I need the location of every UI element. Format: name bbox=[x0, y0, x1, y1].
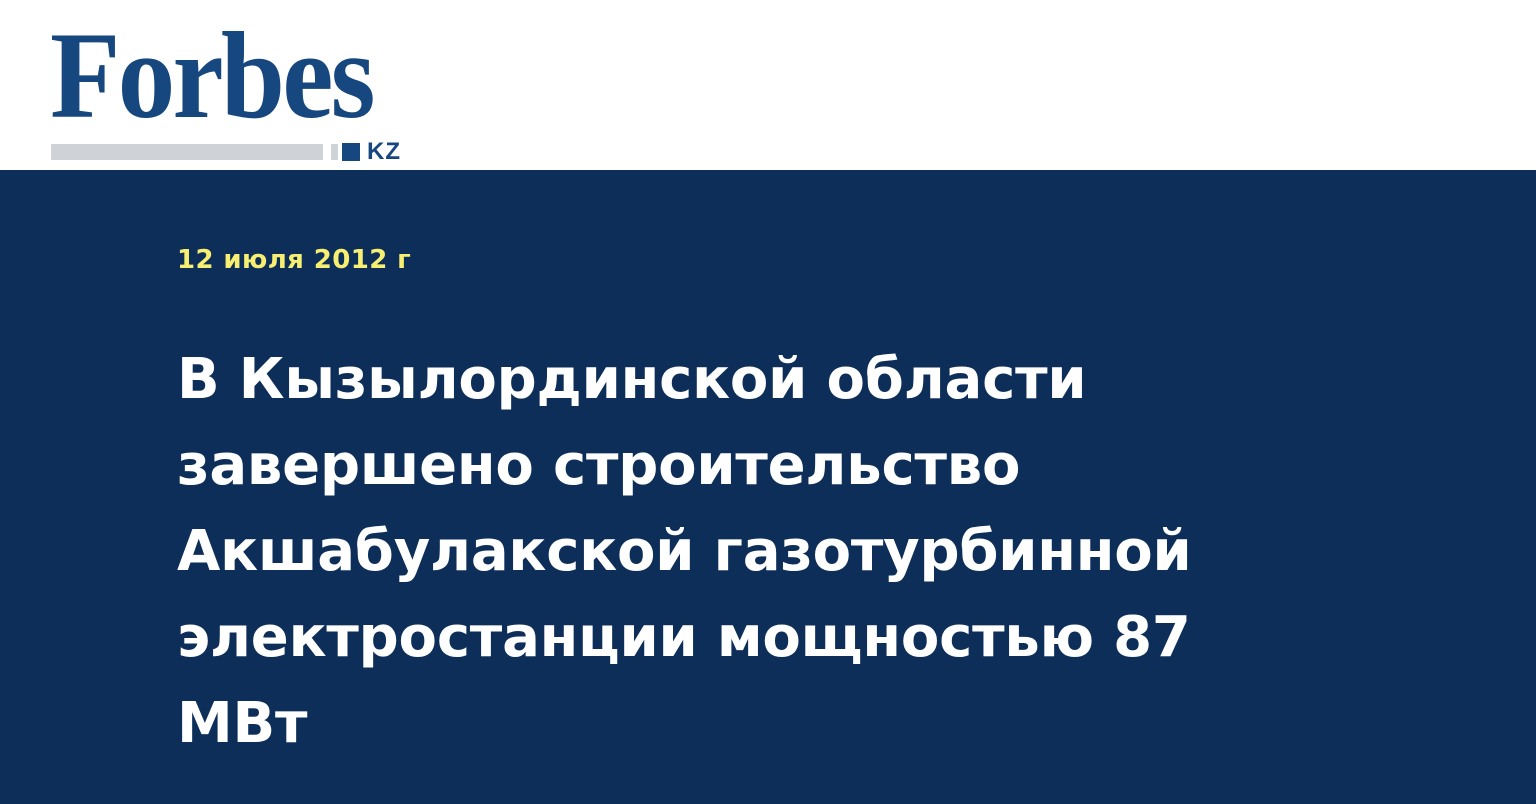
site-header: Forbes kz bbox=[0, 0, 1536, 170]
article-hero: 12 июля 2012 г В Кызылординской области … bbox=[0, 170, 1536, 804]
logo-kz-label: kz bbox=[367, 141, 401, 163]
forbes-kz-logo[interactable]: Forbes kz bbox=[50, 22, 415, 148]
article-headline: В Кызылординской области завершено строи… bbox=[177, 275, 1297, 767]
logo-square-icon bbox=[342, 143, 360, 161]
logo-underbar-stub bbox=[331, 144, 338, 160]
article-page: Forbes kz 12 июля 2012 г В Кызылординско… bbox=[0, 0, 1536, 804]
logo-underbar bbox=[51, 144, 323, 160]
forbes-wordmark: Forbes bbox=[50, 22, 373, 130]
hero-content: 12 июля 2012 г В Кызылординской области … bbox=[177, 170, 1307, 767]
article-date: 12 июля 2012 г bbox=[177, 170, 1307, 275]
